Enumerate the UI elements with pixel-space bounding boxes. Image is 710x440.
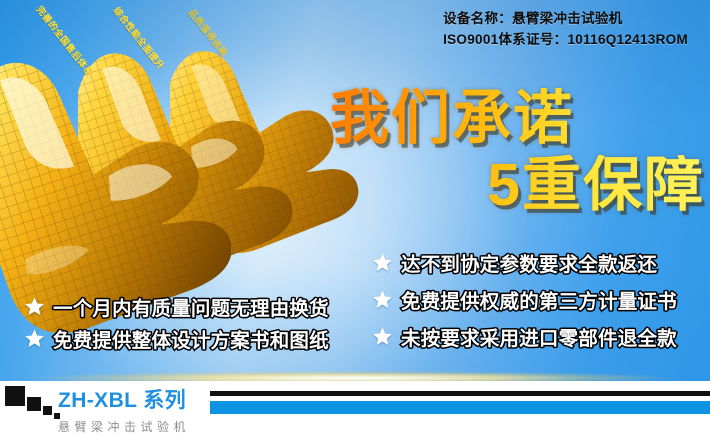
promise-item-right-1: 免费提供权威的第三方计量证书 [372, 285, 677, 314]
square-decor-1 [27, 397, 41, 411]
light-streak-divider [0, 369, 710, 381]
promise-text: 达不到协定参数要求全款返还 [401, 248, 657, 277]
promise-text: 一个月内有质量问题无理由换货 [53, 292, 329, 321]
promise-item-right-0: 达不到协定参数要求全款返还 [372, 248, 657, 277]
footer-rule-black [210, 391, 710, 396]
square-decor-2 [43, 406, 52, 415]
iso-certificate-line: ISO9001体系证号：10116Q12413ROM [443, 30, 688, 51]
model-subtitle: 悬臂梁冲击试验机 [58, 418, 190, 435]
headline-line-2: 5重保障 [330, 155, 705, 216]
promise-item-right-2: 未按要求采用进口零部件退全款 [372, 322, 677, 351]
headline-block: 我们承诺 5重保障 [330, 88, 705, 216]
headline-line-1: 我们承诺 [330, 88, 705, 149]
promise-item-left-0: 一个月内有质量问题无理由换货 [24, 292, 329, 321]
equipment-name-line: 设备名称：悬臂梁冲击试验机 [443, 9, 688, 30]
star-icon [24, 328, 45, 349]
model-block: ZH-XBL 系列 悬臂梁冲击试验机 [58, 384, 190, 435]
star-icon [372, 326, 393, 347]
footer-rule-blue [210, 401, 710, 414]
footer-bar: ZH-XBL 系列 悬臂梁冲击试验机 [0, 381, 710, 440]
square-decor-0 [5, 386, 25, 406]
promo-banner: 完善的全国售后体系 综合性能全面提升 品质值得信赖 设备名称：悬臂梁冲击试验机 … [0, 0, 710, 440]
star-icon [372, 252, 393, 273]
star-icon [24, 296, 45, 317]
promise-item-left-1: 免费提供整体设计方案书和图纸 [24, 324, 329, 353]
star-icon [372, 289, 393, 310]
equipment-spec-block: 设备名称：悬臂梁冲击试验机 ISO9001体系证号：10116Q12413ROM [443, 9, 688, 51]
promise-text: 免费提供权威的第三方计量证书 [401, 285, 677, 314]
model-name: ZH-XBL 系列 [58, 384, 190, 414]
promise-text: 未按要求采用进口零部件退全款 [401, 322, 677, 351]
promise-text: 免费提供整体设计方案书和图纸 [53, 324, 329, 353]
